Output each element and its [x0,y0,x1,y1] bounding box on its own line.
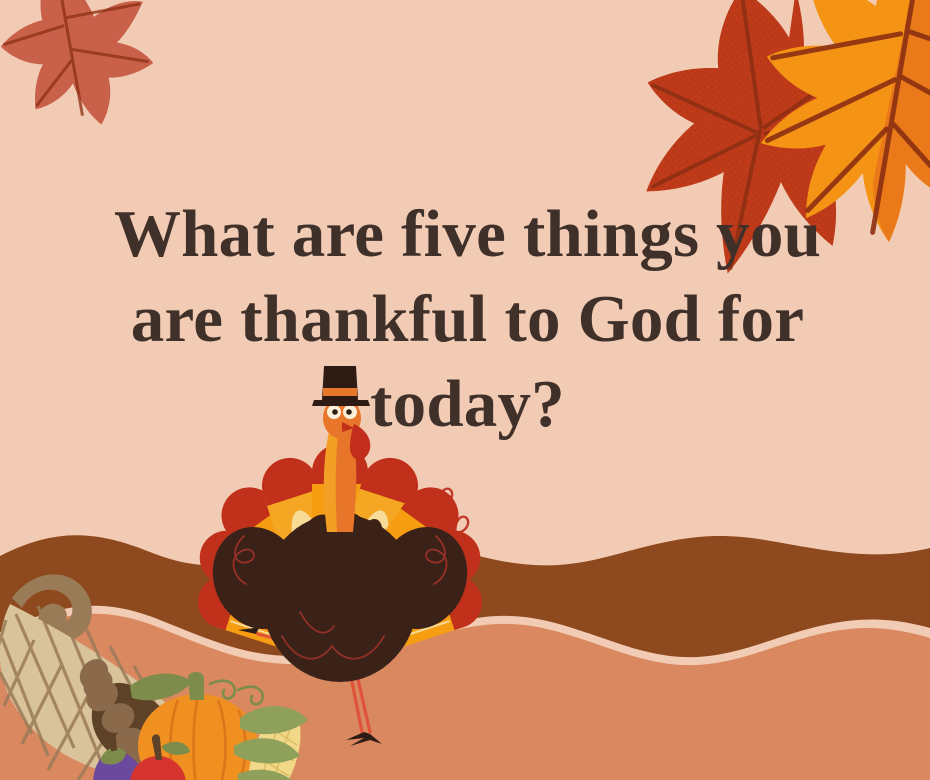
pumpkin [138,672,263,780]
cornucopia-rim [74,653,175,780]
pumpkin-leaf [130,673,192,700]
page-title: What are five things you are thankful to… [95,192,840,447]
thanksgiving-poster: What are five things you are thankful to… [0,0,930,780]
turkey-body [262,514,418,682]
corn-husk [232,706,308,780]
turkey-wings [198,513,483,642]
terracotta-ground [0,614,930,780]
turkey-legs [258,626,370,732]
brown-wave-band [0,535,930,657]
apple [130,734,190,780]
turkey-feet [238,618,382,746]
eggplant [81,727,157,780]
turkey-tail-feathers [189,444,491,662]
cornucopia-mouth [92,683,212,774]
cornucopia-body [0,604,218,780]
cornucopia-horn-tip [12,574,92,641]
corn [238,702,311,780]
